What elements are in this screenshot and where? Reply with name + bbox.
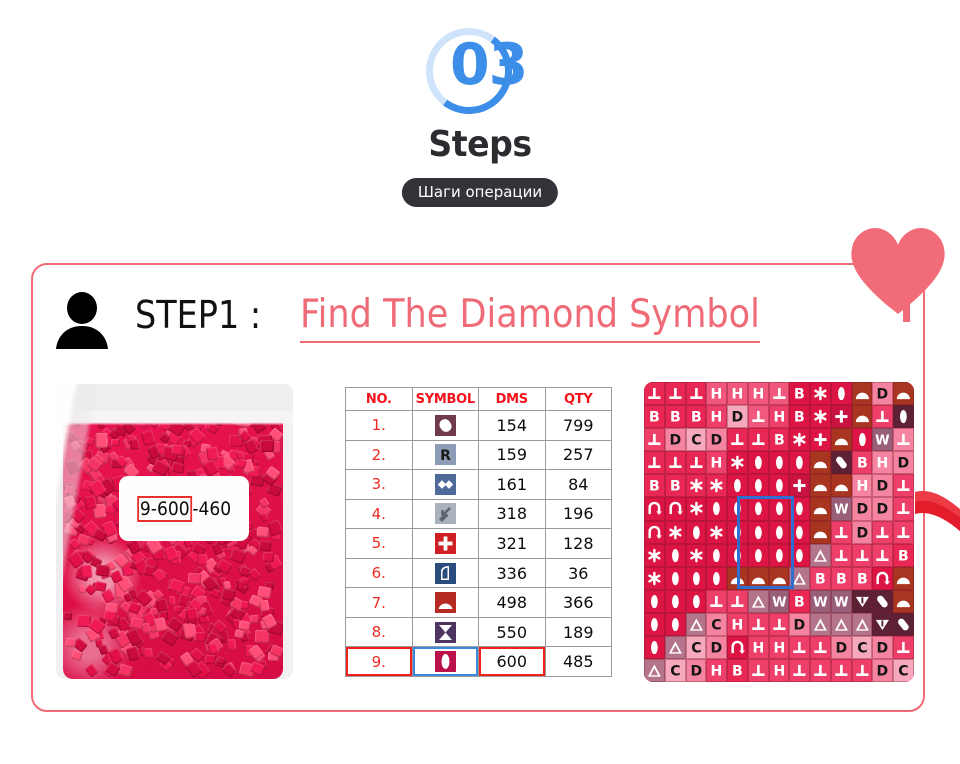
pattern-cell <box>727 590 748 613</box>
pattern-cell <box>706 544 727 567</box>
svg-text:B: B <box>794 387 805 403</box>
svg-text:B: B <box>649 410 660 426</box>
pattern-cell <box>831 382 852 405</box>
pattern-cell <box>686 497 707 520</box>
letter-r-symbol: R <box>435 444 456 465</box>
pattern-cell: D <box>852 521 873 544</box>
cell-symbol <box>412 617 479 647</box>
header: 03 Steps Шаги операции <box>0 0 960 215</box>
pattern-cell: B <box>665 405 686 428</box>
pattern-cell <box>831 405 852 428</box>
symbol-legend-table: NO.SYMBOLDMSQTY 1.1547992.R1592573.16184… <box>345 387 612 677</box>
pattern-cell: W <box>810 590 831 613</box>
table-header-row: NO.SYMBOLDMSQTY <box>346 388 612 411</box>
pattern-cell <box>852 613 873 636</box>
pattern-cell <box>789 428 810 451</box>
svg-text:H: H <box>752 387 764 403</box>
cell-qty: 196 <box>545 499 612 529</box>
cell-symbol <box>412 588 479 618</box>
pattern-cell <box>789 521 810 544</box>
pattern-cell <box>665 544 686 567</box>
svg-text:B: B <box>836 571 847 587</box>
svg-text:W: W <box>834 503 849 518</box>
bag-code: 9-600-460 <box>137 498 231 520</box>
diamond-bead <box>138 420 148 429</box>
steps-subtitle-badge: Шаги операции <box>402 178 558 207</box>
table-header-no: NO. <box>346 388 413 411</box>
cell-no: 1. <box>346 411 413 441</box>
svg-text:C: C <box>857 641 867 657</box>
diamond-bead <box>118 663 133 677</box>
cell-no: 5. <box>346 529 413 559</box>
pattern-cell: H <box>727 382 748 405</box>
diamond-bead <box>167 596 175 605</box>
svg-text:D: D <box>669 433 681 449</box>
pattern-cell <box>810 382 831 405</box>
pattern-cell: B <box>644 405 665 428</box>
heart-stem <box>903 280 910 322</box>
cell-no: 7. <box>346 588 413 618</box>
pattern-cell <box>644 567 665 590</box>
pattern-cell <box>748 590 769 613</box>
pattern-cell <box>769 451 790 474</box>
cell-symbol: R <box>412 440 479 470</box>
svg-text:H: H <box>773 410 785 426</box>
pattern-cell <box>748 567 769 590</box>
pattern-cell: H <box>769 659 790 682</box>
vertical-ellipse-symbol <box>435 651 456 672</box>
cell-no: 2. <box>346 440 413 470</box>
svg-text:D: D <box>794 618 806 634</box>
pattern-cell: D <box>893 451 914 474</box>
svg-text:D: D <box>856 525 868 541</box>
pattern-cell: D <box>872 497 893 520</box>
cell-qty: 485 <box>545 647 612 677</box>
table-row[interactable]: 7.498366 <box>346 588 612 618</box>
pattern-cell <box>852 405 873 428</box>
pattern-cell <box>810 613 831 636</box>
pattern-cell <box>727 474 748 497</box>
cell-dms: 159 <box>479 440 546 470</box>
pattern-cell <box>748 405 769 428</box>
diamond-bead <box>240 601 249 609</box>
svg-text:H: H <box>711 664 723 680</box>
cell-qty: 257 <box>545 440 612 470</box>
pattern-cell: C <box>852 636 873 659</box>
diamond-bead <box>206 446 219 460</box>
svg-text:D: D <box>732 410 744 426</box>
pattern-cell: C <box>893 659 914 682</box>
pattern-cell <box>852 590 873 613</box>
cell-dms: 318 <box>479 499 546 529</box>
svg-text:D: D <box>835 641 847 657</box>
pattern-cell <box>644 636 665 659</box>
table-header-qty: QTY <box>545 388 612 411</box>
svg-text:B: B <box>670 410 681 426</box>
pattern-cell: H <box>706 659 727 682</box>
pattern-cell <box>810 544 831 567</box>
pattern-cell: B <box>686 405 707 428</box>
page-title: Find The Diamond Symbol <box>300 292 760 343</box>
pattern-cell <box>769 567 790 590</box>
cell-symbol <box>412 647 479 677</box>
svg-text:D: D <box>877 664 889 680</box>
svg-text:D: D <box>711 641 723 657</box>
pattern-cell <box>789 474 810 497</box>
svg-text:D: D <box>856 502 868 518</box>
diamond-bead <box>234 629 245 639</box>
pattern-cell: D <box>789 613 810 636</box>
diamond-bead <box>84 663 98 677</box>
quarter-leaf-symbol <box>435 563 456 584</box>
cell-dms: 336 <box>479 558 546 588</box>
pattern-cell <box>831 451 852 474</box>
pattern-cell: W <box>831 497 852 520</box>
pattern-cell: D <box>727 405 748 428</box>
cell-dms: 600 <box>479 647 546 677</box>
pattern-cell <box>665 382 686 405</box>
diamond-bead <box>81 564 93 578</box>
pattern-cell <box>706 567 727 590</box>
diamond-bead <box>90 413 99 423</box>
pattern-cell: H <box>769 405 790 428</box>
step-number: 03 <box>450 37 527 94</box>
svg-text:D: D <box>898 456 910 472</box>
pattern-cell <box>644 590 665 613</box>
pattern-cell <box>810 474 831 497</box>
pattern-cell <box>748 521 769 544</box>
pattern-cell <box>789 497 810 520</box>
svg-text:H: H <box>711 456 723 472</box>
pattern-cell <box>686 567 707 590</box>
pattern-cell <box>831 613 852 636</box>
pattern-cell <box>810 659 831 682</box>
pattern-cell <box>872 613 893 636</box>
svg-text:B: B <box>857 456 868 472</box>
pattern-cell: D <box>872 474 893 497</box>
pattern-cell <box>852 382 873 405</box>
cell-qty: 84 <box>545 470 612 500</box>
pattern-cell <box>872 544 893 567</box>
diamond-bead <box>63 417 75 427</box>
cell-no: 9. <box>346 647 413 677</box>
svg-text:R: R <box>440 448 451 464</box>
pattern-cell <box>893 636 914 659</box>
pattern-cell <box>810 405 831 428</box>
pattern-cell <box>831 474 852 497</box>
svg-text:B: B <box>691 410 702 426</box>
svg-text:B: B <box>670 479 681 495</box>
pattern-cell <box>789 451 810 474</box>
pattern-cell: B <box>852 567 873 590</box>
pattern-cell <box>769 497 790 520</box>
table-body: 1.1547992.R1592573.161844.3181965.321128… <box>346 411 612 677</box>
table-row[interactable]: 6.33636 <box>346 558 612 588</box>
pattern-cell <box>644 544 665 567</box>
pattern-cell <box>789 659 810 682</box>
svg-text:B: B <box>649 479 660 495</box>
diamond-bead <box>250 615 260 623</box>
diamond-bead <box>144 648 154 659</box>
cell-no: 8. <box>346 617 413 647</box>
pattern-cell <box>831 428 852 451</box>
diamond-bead <box>65 637 76 647</box>
pattern-cell <box>665 567 686 590</box>
heart-icon <box>846 222 950 318</box>
cell-no: 3. <box>346 470 413 500</box>
svg-text:H: H <box>773 664 785 680</box>
pattern-cell: B <box>644 474 665 497</box>
pattern-cell <box>727 451 748 474</box>
diamond-bead <box>130 439 139 450</box>
svg-text:H: H <box>877 456 889 472</box>
cell-qty: 36 <box>545 558 612 588</box>
table-row[interactable]: 5.321128 <box>346 529 612 559</box>
pattern-cell <box>644 521 665 544</box>
pattern-cell <box>727 567 748 590</box>
diamond-bead <box>63 612 73 621</box>
cell-symbol <box>412 499 479 529</box>
pattern-cell: C <box>706 613 727 636</box>
pattern-cell <box>665 613 686 636</box>
pattern-cell <box>644 497 665 520</box>
pattern-cell <box>852 544 873 567</box>
cell-symbol <box>412 558 479 588</box>
pattern-cell <box>644 382 665 405</box>
pattern-cell <box>810 497 831 520</box>
pattern-cell: H <box>872 451 893 474</box>
pattern-cell <box>686 521 707 544</box>
pattern-cell <box>686 474 707 497</box>
svg-text:H: H <box>732 387 744 403</box>
svg-text:B: B <box>857 571 868 587</box>
pattern-cell <box>748 659 769 682</box>
pattern-cell <box>686 590 707 613</box>
svg-text:B: B <box>815 571 826 587</box>
pattern-cell: H <box>748 636 769 659</box>
pattern-cell <box>769 613 790 636</box>
half-dome-symbol <box>435 592 456 613</box>
table-row[interactable]: 2.R159257 <box>346 440 612 470</box>
pattern-cell <box>665 521 686 544</box>
svg-text:W: W <box>772 596 787 611</box>
svg-text:H: H <box>752 641 764 657</box>
svg-text:B: B <box>794 410 805 426</box>
diamond-bead <box>241 418 250 428</box>
pattern-cell <box>706 497 727 520</box>
pattern-cell: D <box>706 636 727 659</box>
pattern-grid: HHHBDBBBHDHBDCDBWHBHDBBHDWDDDBBBBWBWWCHD… <box>644 382 914 682</box>
pattern-cell: D <box>872 659 893 682</box>
cell-dms: 161 <box>479 470 546 500</box>
pattern-cell: B <box>789 382 810 405</box>
svg-text:D: D <box>690 664 702 680</box>
pattern-cell <box>686 451 707 474</box>
pattern-cell <box>644 428 665 451</box>
bag-code-suffix: -460 <box>192 498 231 520</box>
pattern-cell <box>727 544 748 567</box>
pattern-cell <box>831 659 852 682</box>
pattern-cell: H <box>769 636 790 659</box>
two-diamonds-symbol <box>435 474 456 495</box>
diamond-bead <box>195 632 207 642</box>
cell-no: 4. <box>346 499 413 529</box>
svg-text:C: C <box>712 618 722 634</box>
pattern-cell: C <box>686 636 707 659</box>
pattern-cell <box>810 636 831 659</box>
pattern-cell <box>665 451 686 474</box>
cell-dms: 154 <box>479 411 546 441</box>
pattern-cell: D <box>665 428 686 451</box>
diamond-bead <box>111 439 120 447</box>
diamond-bead <box>256 526 269 537</box>
pattern-cell <box>831 544 852 567</box>
pattern-cell <box>727 636 748 659</box>
pattern-cell <box>727 497 748 520</box>
pattern-cell: W <box>831 590 852 613</box>
pattern-cell <box>872 405 893 428</box>
pattern-cell: D <box>872 382 893 405</box>
diamond-bead <box>140 429 156 446</box>
page-root: 03 Steps Шаги операции STEP1 : F <box>0 0 960 764</box>
pattern-cell <box>789 636 810 659</box>
pattern-cell <box>852 659 873 682</box>
table-row[interactable]: 4.318196 <box>346 499 612 529</box>
pattern-cell: B <box>769 428 790 451</box>
svg-text:H: H <box>711 387 723 403</box>
cell-symbol <box>412 529 479 559</box>
person-icon <box>55 291 109 349</box>
step-number-badge: 03 <box>426 28 536 114</box>
pattern-cell <box>748 428 769 451</box>
pattern-cell <box>769 474 790 497</box>
pattern-cell <box>893 521 914 544</box>
cell-qty: 189 <box>545 617 612 647</box>
pattern-cell: B <box>810 567 831 590</box>
svg-text:B: B <box>774 433 785 449</box>
svg-text:D: D <box>877 479 889 495</box>
svg-text:C: C <box>691 641 701 657</box>
step-card: STEP1 : Find The Diamond Symbol 9-600-46… <box>31 263 925 712</box>
diamond-bead <box>259 600 270 612</box>
step-label: STEP1 : <box>135 293 261 337</box>
pattern-cell <box>706 590 727 613</box>
pattern-cell: H <box>727 613 748 636</box>
diamond-bead <box>198 554 208 565</box>
cell-symbol <box>412 470 479 500</box>
diamond-bead <box>226 639 236 650</box>
diamond-bead <box>188 572 202 584</box>
pattern-cell <box>727 521 748 544</box>
pattern-cell <box>893 405 914 428</box>
svg-text:W: W <box>834 596 849 611</box>
pattern-cell <box>893 590 914 613</box>
bag-label: 9-600-460 <box>119 476 249 541</box>
svg-text:H: H <box>773 641 785 657</box>
pattern-cell: W <box>872 428 893 451</box>
svg-text:H: H <box>732 618 744 634</box>
pattern-cell <box>769 544 790 567</box>
hourglass-symbol <box>435 622 456 643</box>
pattern-cell <box>872 590 893 613</box>
pattern-cell: D <box>872 636 893 659</box>
svg-text:D: D <box>711 433 723 449</box>
pattern-cell <box>893 613 914 636</box>
diamond-bead <box>95 433 108 448</box>
svg-text:H: H <box>856 479 868 495</box>
bag-code-highlight: 9-600 <box>137 496 192 522</box>
svg-text:W: W <box>813 596 828 611</box>
table-row[interactable]: 9.600485 <box>346 647 612 677</box>
pattern-cell: H <box>706 382 727 405</box>
svg-text:B: B <box>898 548 909 564</box>
table-row[interactable]: 1.154799 <box>346 411 612 441</box>
table-row[interactable]: 8.550189 <box>346 617 612 647</box>
pattern-cell <box>727 428 748 451</box>
diamond-bead <box>257 586 272 600</box>
table-row[interactable]: 3.16184 <box>346 470 612 500</box>
diamond-bag-photo: 9-600-460 <box>56 384 293 679</box>
pattern-cell <box>644 451 665 474</box>
pattern-cell: D <box>706 428 727 451</box>
pattern-cell: B <box>727 659 748 682</box>
pattern-cell <box>686 613 707 636</box>
pattern-cell <box>893 428 914 451</box>
cell-dms: 498 <box>479 588 546 618</box>
pattern-cell <box>789 544 810 567</box>
pattern-cell <box>665 497 686 520</box>
svg-text:D: D <box>877 502 889 518</box>
pattern-cell: B <box>789 405 810 428</box>
pattern-cell: H <box>748 382 769 405</box>
svg-text:B: B <box>794 595 805 611</box>
pattern-cell <box>706 521 727 544</box>
cell-dms: 550 <box>479 617 546 647</box>
pattern-cell: C <box>686 428 707 451</box>
table-header-symbol: SYMBOL <box>412 388 479 411</box>
diamond-bead <box>267 520 283 538</box>
cell-dms: 321 <box>479 529 546 559</box>
diamond-bead <box>173 411 187 423</box>
panels-row: 9-600-460 NO.SYMBOLDMSQTY 1.1547992.R159… <box>33 375 927 695</box>
pattern-cell <box>810 521 831 544</box>
pattern-cell <box>831 521 852 544</box>
pattern-cell <box>748 474 769 497</box>
pattern-cell <box>665 636 686 659</box>
svg-text:W: W <box>876 434 891 449</box>
diamond-bead <box>171 444 184 455</box>
pattern-cell <box>893 497 914 520</box>
cell-qty: 128 <box>545 529 612 559</box>
cell-qty: 366 <box>545 588 612 618</box>
pattern-cell: B <box>831 567 852 590</box>
svg-text:D: D <box>877 387 889 403</box>
diamond-bead <box>85 436 95 445</box>
diamond-bead <box>263 551 275 561</box>
pattern-cell: W <box>769 590 790 613</box>
diamond-bead <box>104 610 117 622</box>
pattern-cell <box>769 382 790 405</box>
pattern-cell: B <box>665 474 686 497</box>
cell-qty: 799 <box>545 411 612 441</box>
pattern-cell <box>810 428 831 451</box>
pattern-cell <box>872 521 893 544</box>
pattern-cell <box>748 613 769 636</box>
svg-text:D: D <box>877 641 889 657</box>
canvas-pattern-preview: HHHBDBBBHDHBDCDBWHBHDBBHDWDDDBBBBWBWWCHD… <box>644 382 914 682</box>
svg-text:H: H <box>711 410 723 426</box>
pattern-cell: B <box>852 451 873 474</box>
